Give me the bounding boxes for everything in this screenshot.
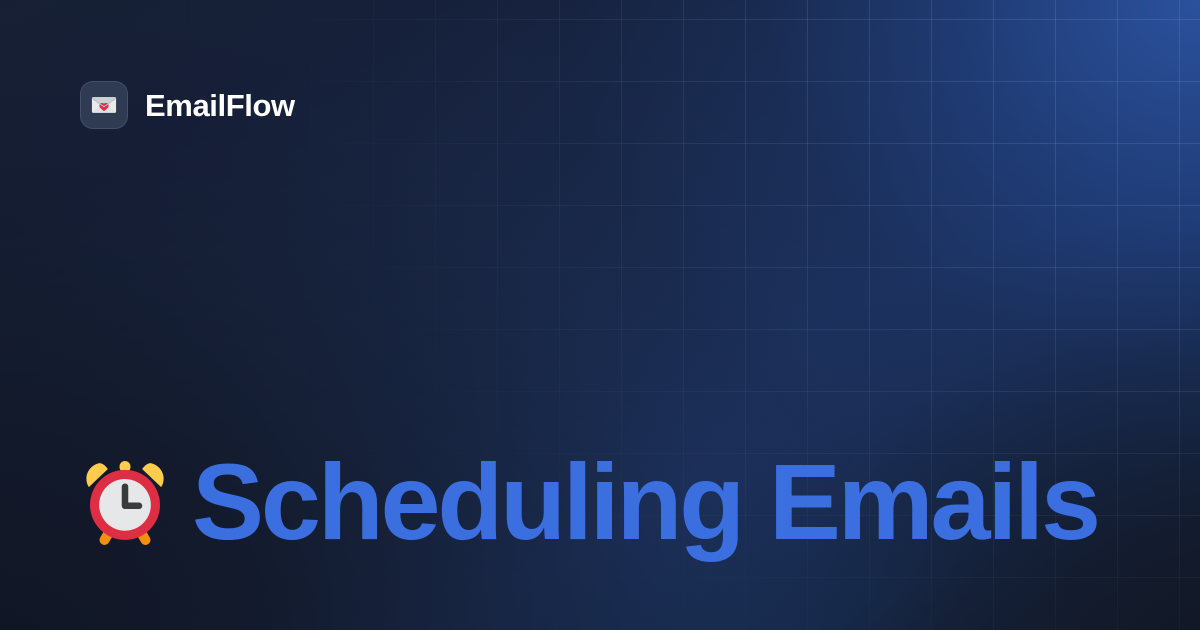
- headline-lockup: Scheduling Emails: [78, 448, 1098, 556]
- card-content: EmailFlow Scheduling Emails: [0, 0, 1200, 630]
- alarm-clock-icon: [78, 455, 172, 549]
- og-card: EmailFlow Scheduling Emails: [0, 0, 1200, 630]
- love-letter-icon: [89, 90, 119, 120]
- page-title: Scheduling Emails: [192, 448, 1098, 556]
- brand-badge: [80, 81, 128, 129]
- brand-name: EmailFlow: [145, 90, 295, 121]
- brand-lockup: EmailFlow: [80, 81, 295, 129]
